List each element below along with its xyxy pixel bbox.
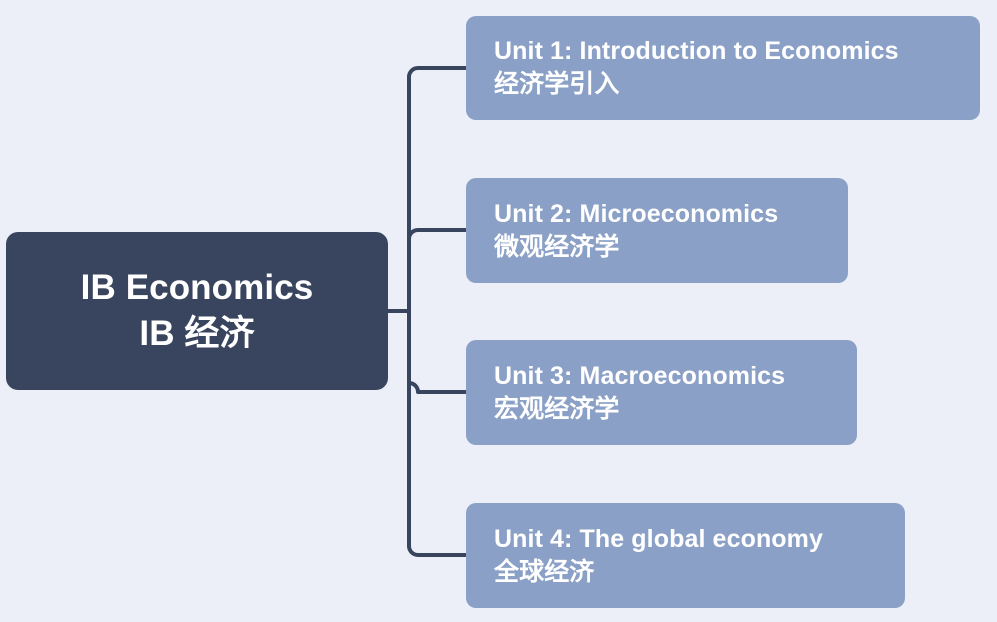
root-node-label-zh: IB 经济	[139, 311, 254, 357]
connector-branch-unit-2	[409, 230, 466, 239]
branch-node-unit-3[interactable]: Unit 3: Macroeconomics 宏观经济学	[466, 340, 857, 445]
root-node-label-en: IB Economics	[81, 265, 314, 311]
branch-node-unit-2-label-en: Unit 2: Microeconomics	[494, 198, 778, 231]
branch-node-unit-4[interactable]: Unit 4: The global economy 全球经济	[466, 503, 905, 608]
branch-node-unit-3-label-zh: 宏观经济学	[494, 393, 620, 426]
root-node-ib-economics[interactable]: IB Economics IB 经济	[6, 232, 388, 390]
branch-node-unit-1[interactable]: Unit 1: Introduction to Economics 经济学引入	[466, 16, 980, 120]
branch-node-unit-4-label-en: Unit 4: The global economy	[494, 523, 823, 556]
branch-node-unit-4-label-zh: 全球经济	[494, 556, 594, 589]
branch-node-unit-3-label-en: Unit 3: Macroeconomics	[494, 360, 785, 393]
branch-node-unit-1-label-en: Unit 1: Introduction to Economics	[494, 35, 899, 68]
branch-node-unit-2-label-zh: 微观经济学	[494, 231, 620, 264]
connector-branch-unit-3	[409, 383, 466, 392]
mind-map-canvas: IB Economics IB 经济 Unit 1: Introduction …	[0, 0, 997, 622]
branch-node-unit-1-label-zh: 经济学引入	[494, 68, 620, 101]
connector-branch-unit-4	[409, 546, 466, 555]
branch-node-unit-2[interactable]: Unit 2: Microeconomics 微观经济学	[466, 178, 848, 283]
connector-branch-unit-1	[409, 68, 466, 77]
